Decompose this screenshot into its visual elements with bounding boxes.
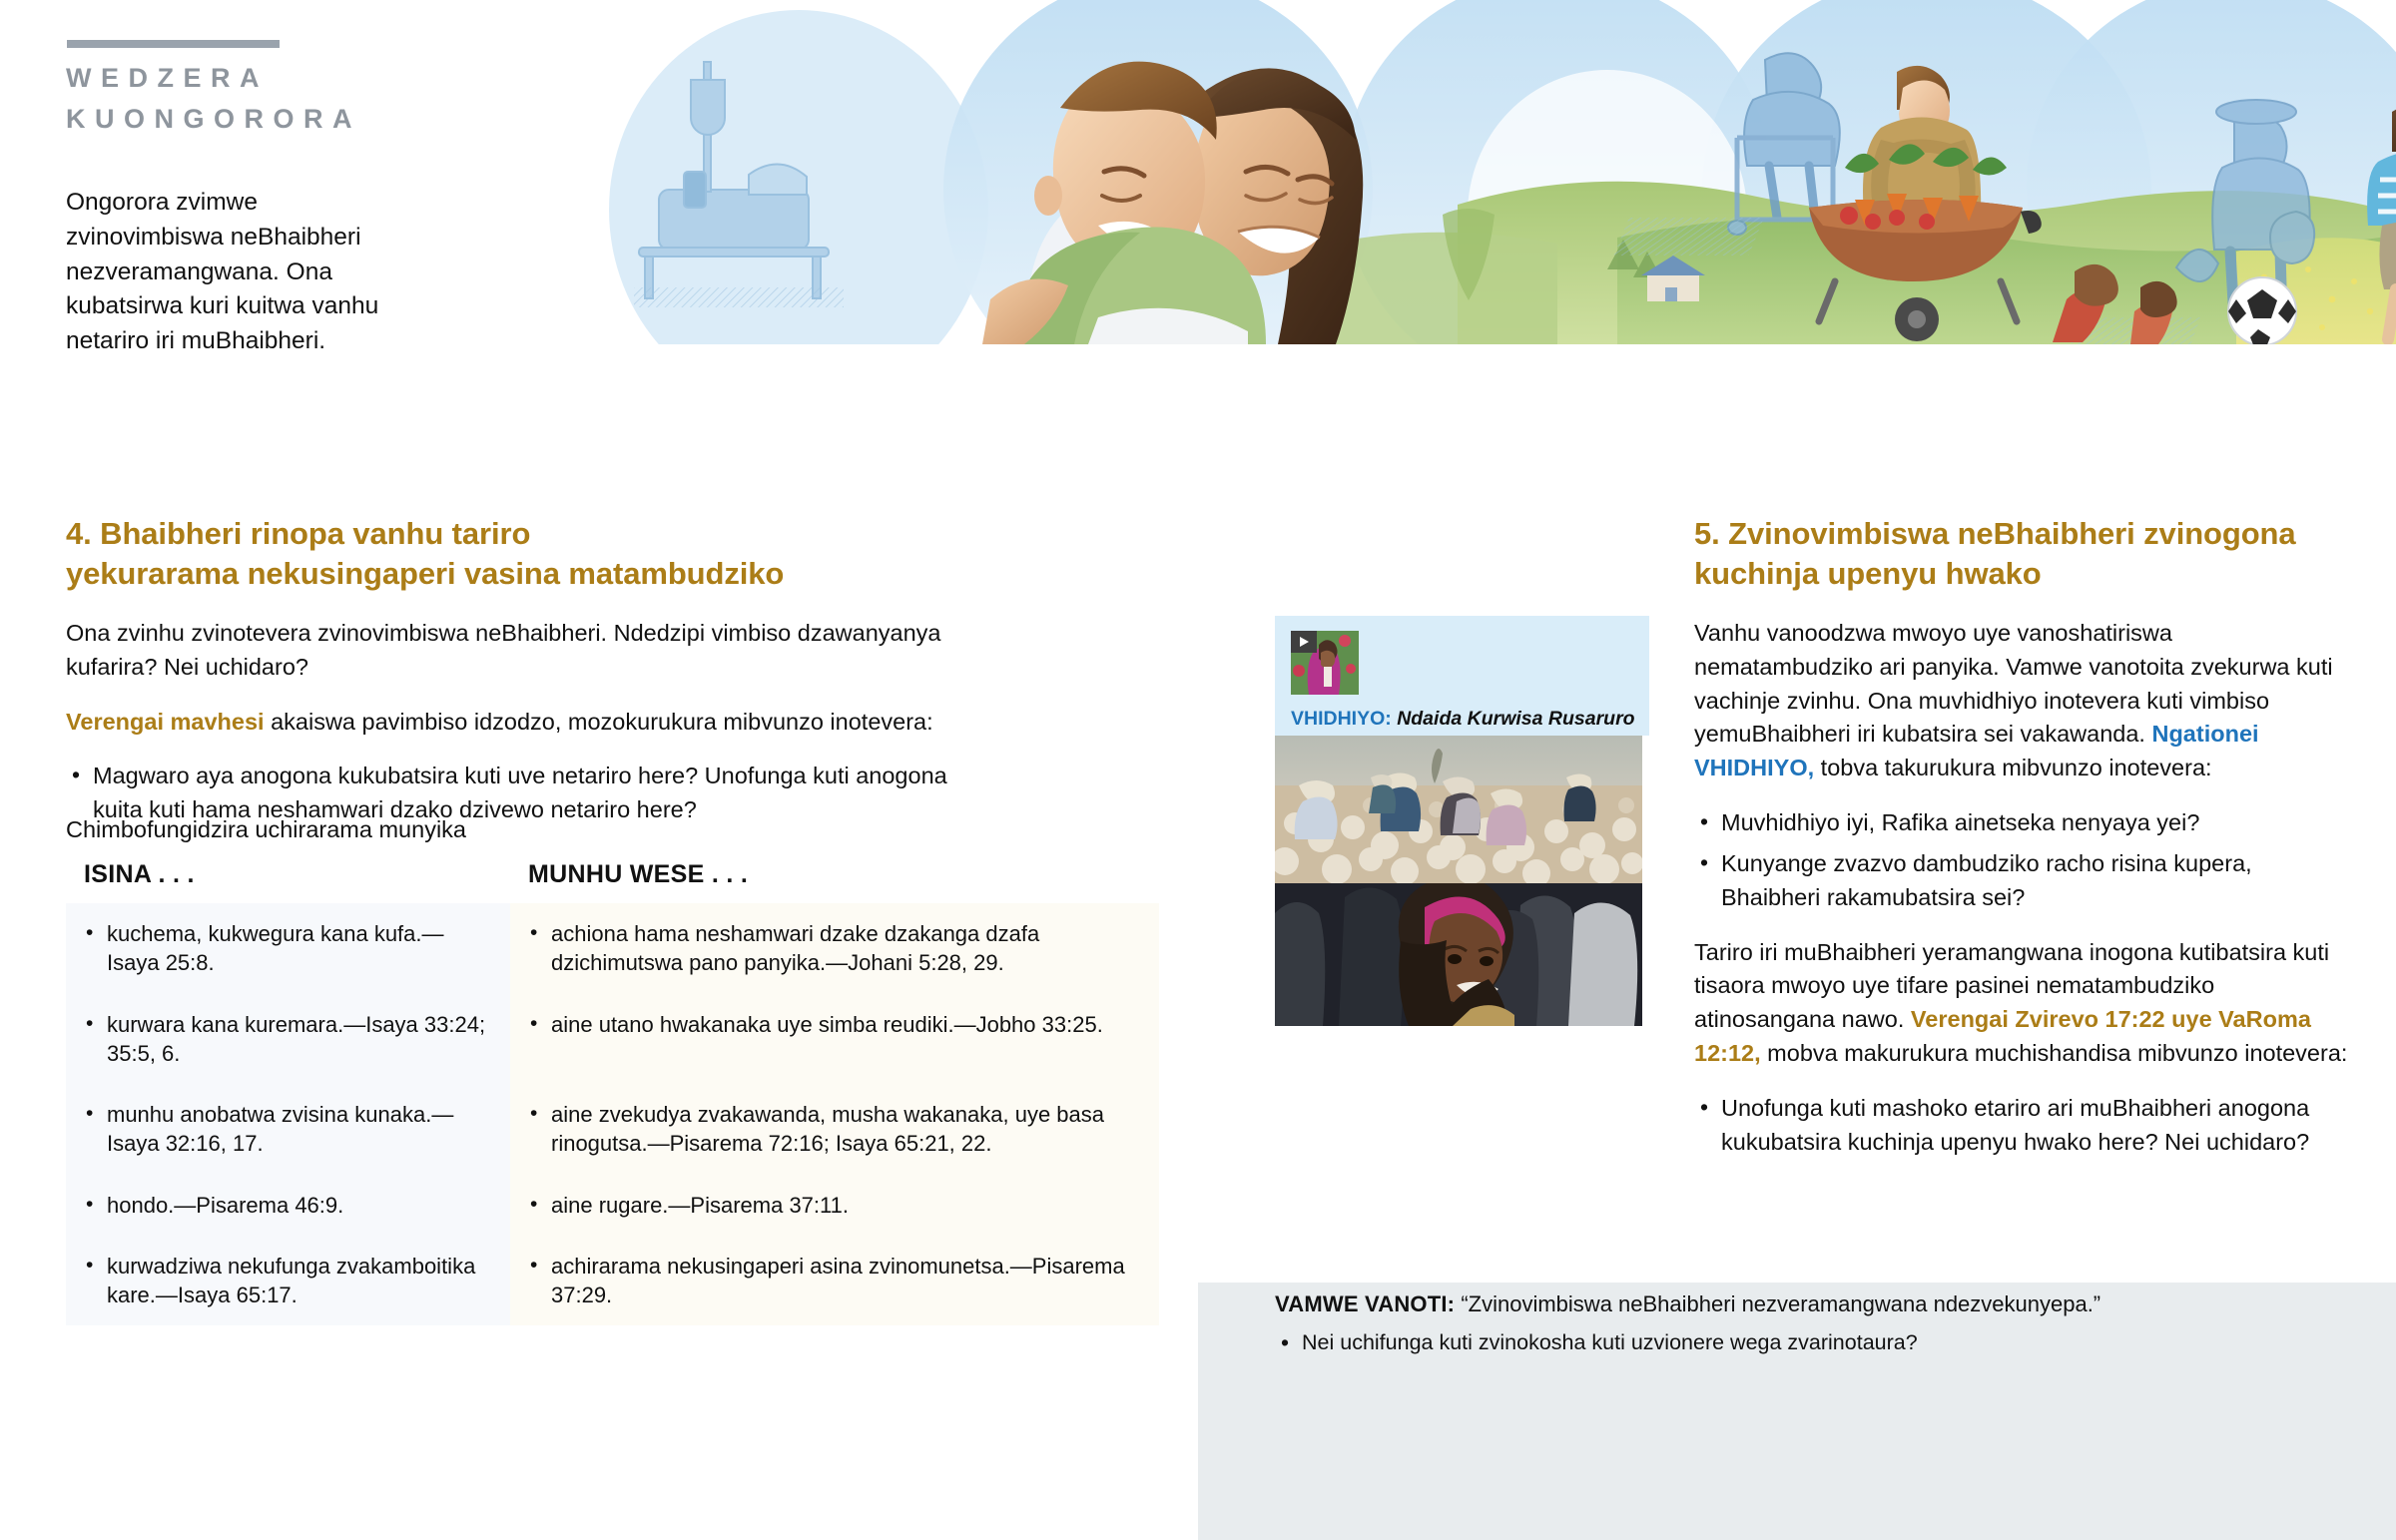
section-5-heading: 5. Zvinovimbiswa neBhaibheri zvinogona k…: [1694, 514, 2353, 593]
table-cell-right: •achiona hama neshamwari dzake dzakanga …: [510, 903, 1159, 994]
section-kicker: WEDZERA KUONGORORA: [66, 58, 525, 140]
objection-quote: “Zvinovimbiswa neBhaibheri nezveramangwa…: [1461, 1291, 2100, 1316]
kicker-line-1: WEDZERA: [66, 58, 525, 99]
section-5-heading-line-2: kuchinja upenyu hwako: [1694, 554, 2353, 594]
hero-illustration-banner: [599, 0, 2396, 344]
bullet-icon: •: [530, 919, 537, 947]
section-4-heading: 4. Bhaibheri rinopa vanhu tariro yekurar…: [66, 514, 964, 593]
bullet-icon: •: [86, 1100, 93, 1128]
video-still-cotton-field: [1275, 736, 1642, 883]
section-5-paragraph-1-b: tobva takurukura mibvunzo inotevera:: [1814, 755, 2211, 780]
bullet-icon: •: [530, 1191, 537, 1219]
video-still-woman-smiling: [1275, 883, 1642, 1026]
section-4-body: Ona zvinhu zvinotevera zvinovimbiswa neB…: [66, 617, 974, 848]
list-item: Unofunga kuti mashoko etariro ari muBhai…: [1694, 1092, 2353, 1160]
section-5-paragraph-1: Vanhu vanoodzwa mwoyo uye vanoshatiriswa…: [1694, 617, 2353, 785]
bullet-icon: •: [530, 1100, 537, 1128]
play-icon[interactable]: [1291, 631, 1317, 653]
section-5-body: Vanhu vanoodzwa mwoyo uye vanoshatiriswa…: [1694, 617, 2353, 1181]
bullet-icon: •: [86, 1010, 93, 1038]
bullet-icon: •: [530, 1252, 537, 1280]
table-cell-right: •aine zvekudya zvakawanda, musha wakanak…: [510, 1084, 1159, 1175]
table-cell-text: achiona hama neshamwari dzake dzakanga d…: [528, 919, 1139, 978]
video-label: VHIDHIYO:: [1291, 708, 1392, 730]
table-cell-left: •hondo.—Pisarema 46:9.: [66, 1175, 510, 1236]
table-cell-left: •kurwara kana kuremara.—Isaya 33:24; 35:…: [66, 994, 510, 1085]
table-row: •kuchema, kukwegura kana kufa.—Isaya 25:…: [66, 903, 1159, 994]
table-lead-in-text: Chimbofungidzira uchirarama munyika: [66, 816, 466, 843]
table-cell-left: •kuchema, kukwegura kana kufa.—Isaya 25:…: [66, 903, 510, 994]
table-cell-text: hondo.—Pisarema 46:9.: [84, 1191, 490, 1220]
objection-label: VAMWE VANOTI:: [1275, 1291, 1455, 1316]
section-5-bullet-list-1: Muvhidhiyo iyi, Rafika ainetseka nenyaya…: [1694, 806, 2353, 914]
table-cell-text: aine rugare.—Pisarema 37:11.: [528, 1191, 1139, 1220]
table-cell-text: aine utano hwakanaka uye simba reudiki.—…: [528, 1010, 1139, 1039]
list-item: Kunyange zvazvo dambudziko racho risina …: [1694, 847, 2353, 915]
table-header-row: ISINA . . . MUNHU WESE . . .: [66, 860, 1159, 889]
woman-smiling-image: [1275, 883, 1642, 1026]
table-cell-right: •aine utano hwakanaka uye simba reudiki.…: [510, 994, 1159, 1085]
list-item: Muvhidhiyo iyi, Rafika ainetseka nenyaya…: [1694, 806, 2353, 840]
section-4-paragraph-2-rest: akaiswa pavimbiso idzodzo, mozokurukura …: [265, 709, 933, 735]
section-5-bullet-list-2: Unofunga kuti mashoko etariro ari muBhai…: [1694, 1092, 2353, 1160]
table-cell-text: aine zvekudya zvakawanda, musha wakanaka…: [528, 1100, 1139, 1159]
table-cell-text: kurwara kana kuremara.—Isaya 33:24; 35:5…: [84, 1010, 490, 1069]
video-caption-card[interactable]: VHIDHIYO: Ndaida Kurwisa Rusaruro (4:07): [1275, 616, 1649, 736]
table-cell-text: munhu anobatwa zvisina kunaka.—Isaya 32:…: [84, 1100, 490, 1159]
hero-illustration-svg: [599, 0, 2396, 344]
table-cell-right: •aine rugare.—Pisarema 37:11.: [510, 1175, 1159, 1236]
section-4-paragraph-1: Ona zvinhu zvinotevera zvinovimbiswa neB…: [66, 617, 974, 685]
table-cell-text: kuchema, kukwegura kana kufa.—Isaya 25:8…: [84, 919, 490, 978]
video-title: Ndaida Kurwisa Rusaruro: [1397, 708, 1634, 730]
section-5-paragraph-2: Tariro iri muBhaibheri yeramangwana inog…: [1694, 936, 2353, 1071]
objection-box-title: VAMWE VANOTI: “Zvinovimbiswa neBhaibheri…: [1275, 1289, 2333, 1320]
cotton-field-image: [1275, 736, 1642, 883]
table-row: •kurwara kana kuremara.—Isaya 33:24; 35:…: [66, 994, 1159, 1085]
bullet-icon: •: [86, 919, 93, 947]
section-4-paragraph-2: Verengai mavhesi akaiswa pavimbiso idzod…: [66, 706, 974, 740]
bullet-icon: •: [86, 1252, 93, 1280]
section-4-heading-line-1: 4. Bhaibheri rinopa vanhu tariro: [66, 514, 964, 554]
table-row: •kurwadziwa nekufunga zvakamboitika kare…: [66, 1236, 1159, 1326]
objection-box-bullet-list: Nei uchifunga kuti zvinokosha kuti uzvio…: [1275, 1327, 2333, 1365]
table-row: •munhu anobatwa zvisina kunaka.—Isaya 32…: [66, 1084, 1159, 1175]
table-cell-text: kurwadziwa nekufunga zvakamboitika kare.…: [84, 1252, 490, 1310]
intro-paragraph: Ongorora zvimwe zvinovimbiswa neBhaibher…: [66, 186, 395, 359]
bullet-icon: •: [530, 1010, 537, 1038]
section-5-heading-line-1: 5. Zvinovimbiswa neBhaibheri zvinogona: [1694, 514, 2353, 554]
objection-box: [1198, 1283, 2396, 1540]
comparison-table: ISINA . . . MUNHU WESE . . . •kuchema, k…: [66, 860, 1159, 1325]
section-4-heading-line-2: yekurarama nekusingaperi vasina matambud…: [66, 554, 964, 594]
list-item: Nei uchifunga kuti zvinokosha kuti uzvio…: [1275, 1327, 2333, 1358]
table-column-header-isina: ISINA . . .: [66, 860, 510, 889]
read-verses-link[interactable]: Verengai mavhesi: [66, 709, 265, 735]
header-rule-divider: [67, 40, 280, 48]
table-cell-right: •achirarama nekusingaperi asina zvinomun…: [510, 1236, 1159, 1326]
section-5-paragraph-2-b: mobva makurukura muchishandisa mibvunzo …: [1761, 1040, 2348, 1066]
bullet-icon: •: [86, 1191, 93, 1219]
kicker-line-2: KUONGORORA: [66, 99, 525, 140]
table-row: •hondo.—Pisarema 46:9. •aine rugare.—Pis…: [66, 1175, 1159, 1236]
table-cell-left: •kurwadziwa nekufunga zvakamboitika kare…: [66, 1236, 510, 1326]
table-column-header-munhu-wese: MUNHU WESE . . .: [510, 860, 1159, 889]
video-thumbnail[interactable]: [1291, 631, 1359, 695]
table-cell-left: •munhu anobatwa zvisina kunaka.—Isaya 32…: [66, 1084, 510, 1175]
table-cell-text: achirarama nekusingaperi asina zvinomune…: [528, 1252, 1139, 1310]
